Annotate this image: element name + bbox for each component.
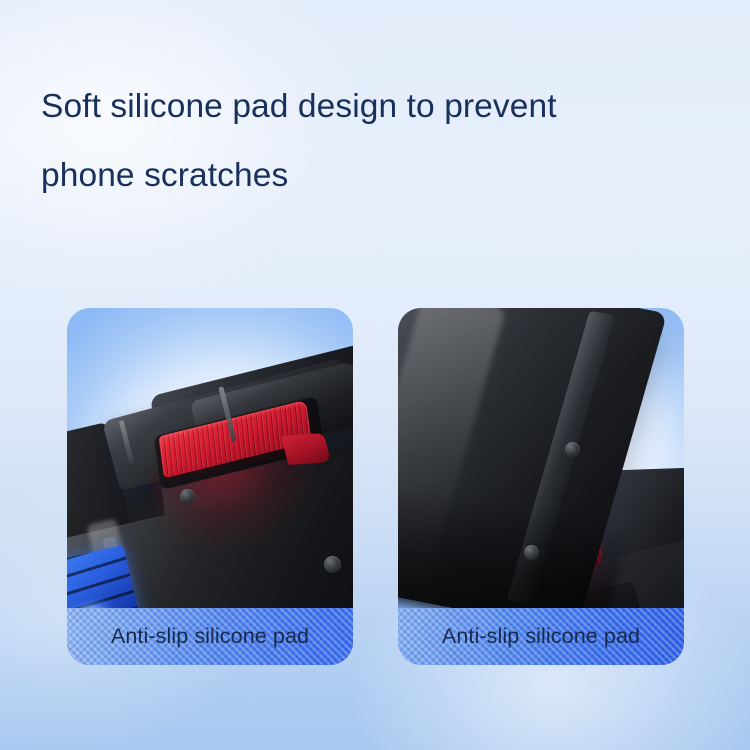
product-feature-page: Soft silicone pad design to prevent phon…	[0, 0, 750, 750]
feature-panel-left: Anti-slip silicone pad	[67, 308, 353, 665]
screw-hole	[524, 545, 539, 560]
caption-band-right: Anti-slip silicone pad	[398, 608, 684, 665]
screw-hole	[565, 442, 580, 457]
caption-band-left: Anti-slip silicone pad	[67, 608, 353, 665]
screw-hole	[324, 556, 341, 573]
feature-panel-right: Anti-slip silicone pad	[398, 308, 684, 665]
page-headline: Soft silicone pad design to prevent phon…	[41, 72, 731, 210]
screw-hole	[180, 489, 195, 504]
red-silicone-pad-edge	[281, 433, 331, 465]
caption-label: Anti-slip silicone pad	[442, 624, 640, 649]
caption-label: Anti-slip silicone pad	[111, 624, 309, 649]
